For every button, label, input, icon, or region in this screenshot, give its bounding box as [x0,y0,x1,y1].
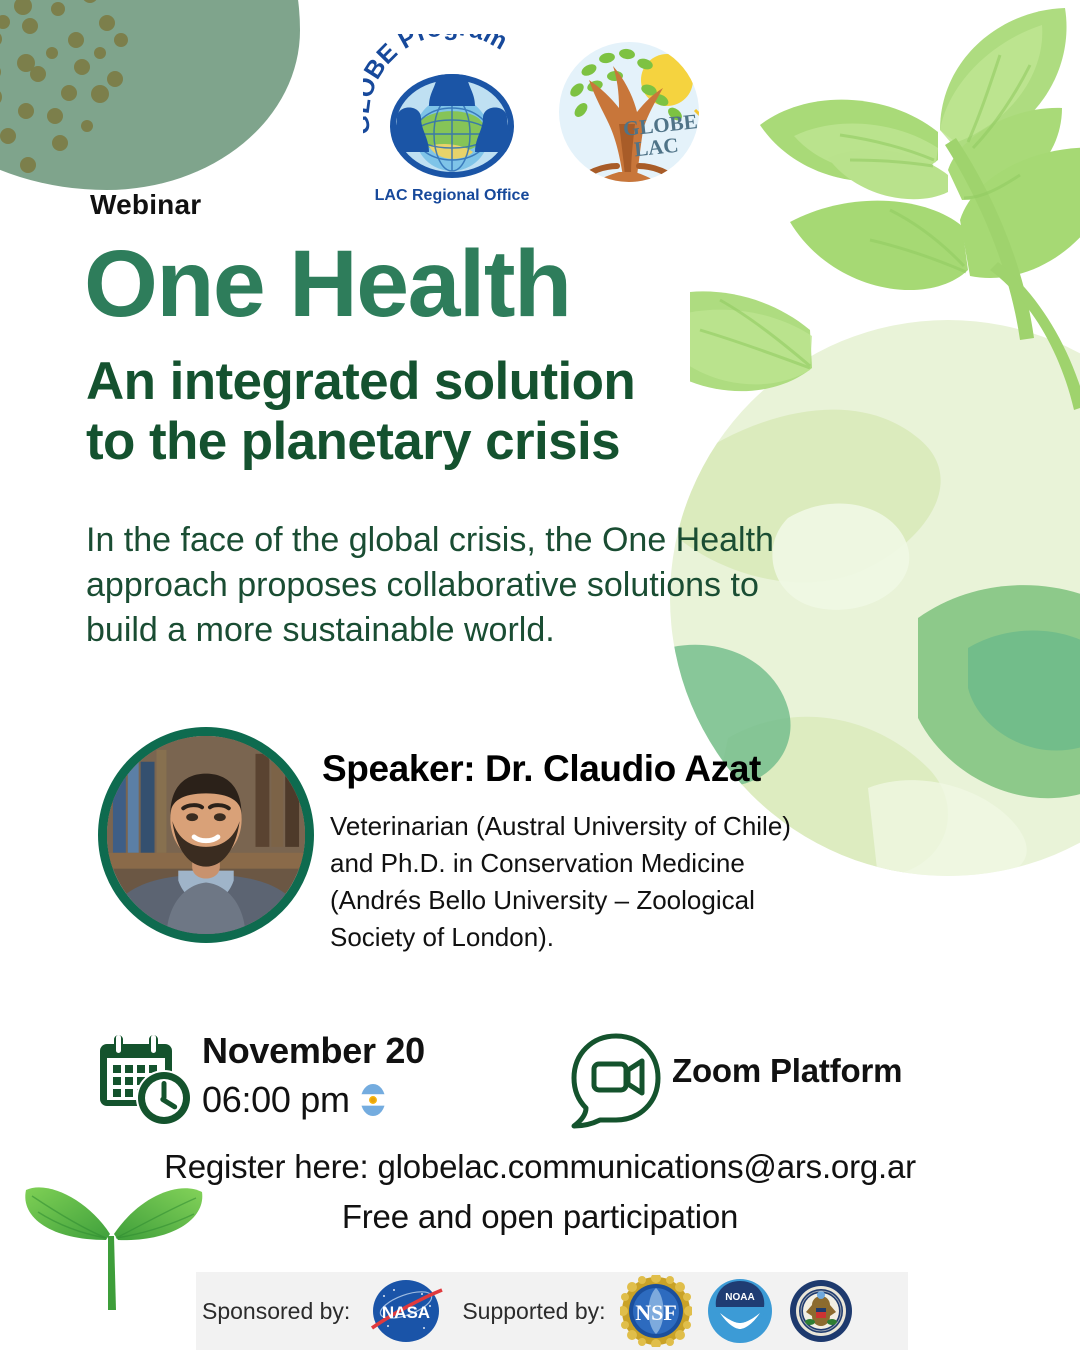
calendar-clock-icon [92,1028,196,1132]
subtitle-line-1: An integrated solution [86,352,635,411]
nsf-logo: NSF [620,1275,692,1347]
us-department-of-state-logo [788,1278,854,1344]
event-platform: Zoom Platform [672,1052,902,1090]
svg-text:NSF: NSF [635,1300,677,1325]
registration-note: Free and open participation [0,1198,1080,1236]
speaker-avatar [98,727,314,943]
supported-by-label: Supported by: [462,1298,605,1325]
subtitle-line-2: to the planetary crisis [86,412,620,471]
event-time-row: 06:00 pm [202,1079,390,1121]
description-text: In the face of the global crisis, the On… [86,518,816,653]
speaker-name: Speaker: Dr. Claudio Azat [322,748,761,790]
nasa-logo: NASA [364,1278,448,1344]
page-subtitle: An integrated solution to the planetary … [86,352,635,473]
argentina-flag-icon [356,1083,390,1117]
noaa-logo: NOAA [706,1277,774,1345]
poster-content: Webinar One Health An integrated solutio… [0,0,1080,1350]
webinar-poster: GLOBE Program [0,0,1080,1350]
event-date: November 20 [202,1030,425,1072]
speaker-bio: Veterinarian (Austral University of Chil… [330,808,830,956]
event-time: 06:00 pm [202,1079,350,1121]
sponsors-footer: Sponsored by: NASA Supported by: [196,1272,908,1350]
kicker-label: Webinar [90,189,201,221]
page-title: One Health [84,237,571,332]
svg-text:NASA: NASA [382,1303,430,1322]
sponsored-by-label: Sponsored by: [202,1298,350,1325]
zoom-video-icon [566,1030,666,1130]
svg-text:NOAA: NOAA [725,1292,754,1303]
registration-line[interactable]: Register here: globelac.communications@a… [0,1148,1080,1186]
event-date-block: November 20 06:00 pm [92,1024,512,1139]
event-platform-block: Zoom Platform [566,1024,1006,1139]
